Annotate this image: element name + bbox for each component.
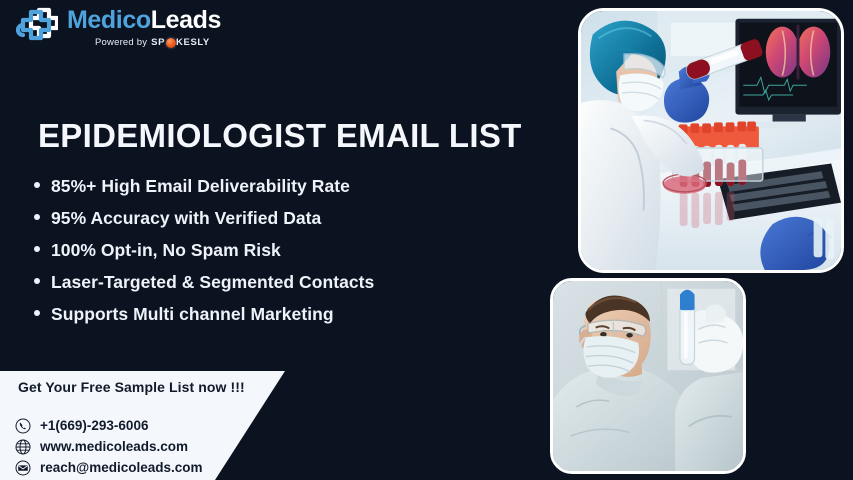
powered-by-label: Powered by — [95, 38, 147, 48]
contact-row-website[interactable]: www.medicoleads.com — [15, 436, 202, 457]
email-address: reach@medicoleads.com — [40, 460, 202, 475]
feature-list: 85%+ High Email Deliverability Rate 95% … — [34, 176, 554, 336]
list-item-label: 95% Accuracy with Verified Data — [51, 208, 321, 229]
list-item: 100% Opt-in, No Spam Risk — [34, 240, 554, 272]
contact-row-phone[interactable]: +1(669)-293-6006 — [15, 415, 202, 436]
bullet-dot-icon — [34, 310, 40, 316]
bullet-dot-icon — [34, 246, 40, 252]
list-item-label: 85%+ High Email Deliverability Rate — [51, 176, 350, 197]
contact-row-email[interactable]: reach@medicoleads.com — [15, 457, 202, 478]
cta-headline: Get Your Free Sample List now !!! — [18, 379, 245, 395]
powered-by-line: Powered by SPKESLY — [95, 38, 221, 48]
brand-logo: MedicoLeads Powered by SPKESLY — [14, 6, 221, 50]
list-item: 95% Accuracy with Verified Data — [34, 208, 554, 240]
phone-icon — [15, 418, 31, 434]
globe-icon — [15, 439, 31, 455]
envelope-icon — [15, 460, 31, 476]
bullet-dot-icon — [34, 214, 40, 220]
spokesly-prefix: SP — [151, 38, 165, 48]
page-title: EPIDEMIOLOGIST EMAIL LIST — [38, 117, 522, 155]
medical-professional-test-tube-photo — [550, 278, 746, 474]
phone-number: +1(669)-293-6006 — [40, 418, 148, 433]
spokesly-dot-icon — [166, 38, 176, 48]
website-url: www.medicoleads.com — [40, 439, 188, 454]
list-item-label: 100% Opt-in, No Spam Risk — [51, 240, 281, 261]
list-item: Laser-Targeted & Segmented Contacts — [34, 272, 554, 304]
bullet-dot-icon — [34, 182, 40, 188]
brand-wordmark: MedicoLeads — [67, 8, 221, 33]
brand-wordmark-part2: Leads — [151, 6, 221, 34]
list-item-label: Supports Multi channel Marketing — [51, 304, 334, 325]
list-item-label: Laser-Targeted & Segmented Contacts — [51, 272, 374, 293]
spokesly-wordmark: SPKESLY — [151, 38, 210, 48]
bullet-dot-icon — [34, 278, 40, 284]
lab-scientist-blood-sample-photo — [578, 8, 844, 273]
list-item: 85%+ High Email Deliverability Rate — [34, 176, 554, 208]
brand-wordmark-part1: Medico — [67, 6, 151, 34]
list-item: Supports Multi channel Marketing — [34, 304, 554, 336]
medical-cross-icon — [14, 6, 58, 50]
contact-info-list: +1(669)-293-6006 www.medicoleads.com rea… — [15, 415, 202, 478]
spokesly-suffix: KESLY — [176, 38, 210, 48]
